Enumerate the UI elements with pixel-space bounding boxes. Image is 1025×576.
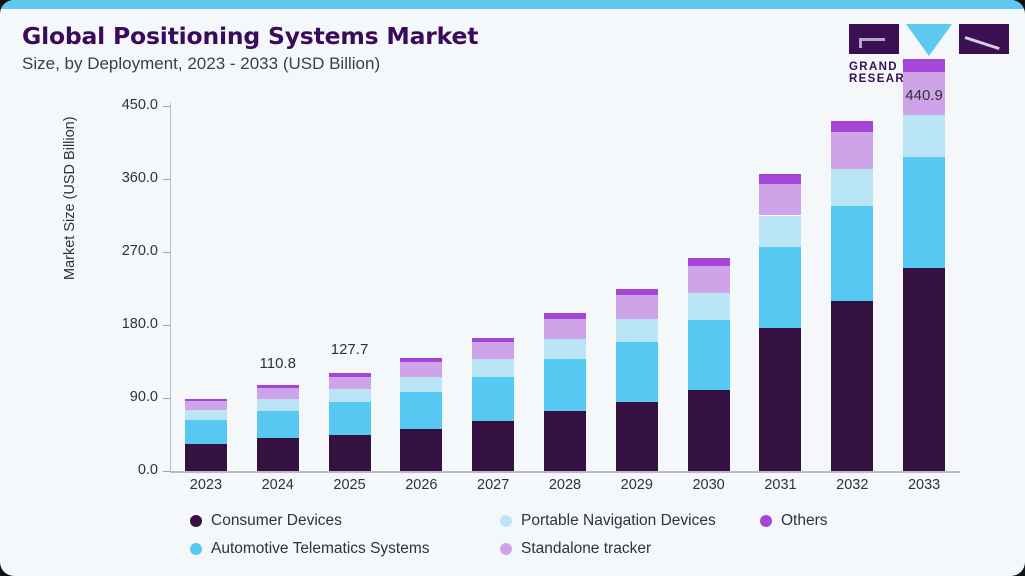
bar-value-label: 110.8	[238, 355, 318, 372]
bar-segment[interactable]	[257, 438, 299, 471]
bar-segment[interactable]	[616, 289, 658, 296]
y-tick-label: 360.0	[90, 170, 158, 186]
bar-segment[interactable]	[759, 247, 801, 328]
bar-segment[interactable]	[688, 320, 730, 390]
bar-segment[interactable]	[544, 339, 586, 359]
y-tick-label: 450.0	[90, 97, 158, 113]
legend-item[interactable]: Others	[760, 512, 828, 530]
bar-segment[interactable]	[688, 266, 730, 293]
bar-segment[interactable]	[616, 319, 658, 343]
bar-2024[interactable]	[257, 381, 299, 471]
logo-marks	[849, 24, 1009, 56]
bar-segment[interactable]	[329, 435, 371, 471]
bar-segment[interactable]	[831, 301, 873, 471]
y-tick-label: 90.0	[90, 389, 158, 405]
bar-segment[interactable]	[185, 410, 227, 420]
bar-2028[interactable]	[544, 313, 586, 471]
bar-segment[interactable]	[903, 268, 945, 471]
x-tick-label-2030: 2030	[669, 477, 749, 493]
bar-segment[interactable]	[257, 399, 299, 410]
x-tick-label-2032: 2032	[812, 477, 892, 493]
legend-color-swatch-icon	[500, 515, 512, 527]
legend-item[interactable]: Standalone tracker	[500, 540, 651, 558]
bar-2031[interactable]	[759, 223, 801, 471]
bar-segment[interactable]	[472, 342, 514, 359]
y-tick-mark	[163, 325, 170, 326]
bar-segment[interactable]	[329, 373, 371, 377]
legend-color-swatch-icon	[760, 515, 772, 527]
bar-segment[interactable]	[400, 358, 442, 362]
chart-plot-area: Market Size (USD Billion) 0.090.0180.027…	[0, 95, 1025, 485]
bar-segment[interactable]	[185, 420, 227, 444]
bar-segment[interactable]	[903, 59, 945, 72]
bar-segment[interactable]	[616, 295, 658, 318]
bar-segment[interactable]	[831, 121, 873, 132]
logo-v-triangle-icon	[906, 24, 952, 56]
bar-2023[interactable]	[185, 399, 227, 471]
bar-2032[interactable]	[831, 176, 873, 471]
y-axis-line	[170, 103, 171, 472]
bar-segment[interactable]	[472, 359, 514, 376]
bar-segment[interactable]	[185, 399, 227, 401]
bar-segment[interactable]	[257, 388, 299, 399]
legend-label: Others	[781, 512, 828, 530]
bar-segment[interactable]	[831, 169, 873, 206]
y-tick-mark	[163, 252, 170, 253]
legend-item[interactable]: Consumer Devices	[190, 512, 342, 530]
legend-label: Portable Navigation Devices	[521, 512, 716, 530]
y-tick-label: 180.0	[90, 316, 158, 332]
bar-segment[interactable]	[400, 392, 442, 429]
legend-label: Consumer Devices	[211, 512, 342, 530]
bar-segment[interactable]	[759, 174, 801, 184]
x-tick-label-2031: 2031	[740, 477, 820, 493]
bar-segment[interactable]	[759, 328, 801, 471]
bar-segment[interactable]	[472, 421, 514, 471]
bar-segment[interactable]	[759, 216, 801, 248]
bar-segment[interactable]	[544, 313, 586, 319]
bar-value-label: 440.9	[884, 87, 964, 104]
bar-segment[interactable]	[400, 429, 442, 471]
x-tick-label-2033: 2033	[884, 477, 964, 493]
bar-segment[interactable]	[185, 444, 227, 471]
legend-color-swatch-icon	[190, 515, 202, 527]
bar-segment[interactable]	[257, 385, 299, 388]
bar-segment[interactable]	[544, 359, 586, 411]
bar-segment[interactable]	[257, 411, 299, 439]
bar-segment[interactable]	[688, 293, 730, 320]
accent-top-bar	[0, 0, 1025, 9]
bar-segment[interactable]	[472, 338, 514, 343]
x-tick-label-2025: 2025	[310, 477, 390, 493]
y-tick-mark	[163, 471, 170, 472]
bar-segment[interactable]	[185, 401, 227, 410]
bar-segment[interactable]	[329, 377, 371, 390]
bar-segment[interactable]	[329, 402, 371, 434]
bar-2025[interactable]	[329, 367, 371, 471]
bar-segment[interactable]	[400, 377, 442, 392]
x-axis-line	[170, 471, 960, 473]
bar-segment[interactable]	[616, 342, 658, 402]
bar-2033[interactable]	[903, 113, 945, 471]
legend-item[interactable]: Automotive Telematics Systems	[190, 540, 430, 558]
legend-item[interactable]: Portable Navigation Devices	[500, 512, 716, 530]
y-axis-title: Market Size (USD Billion)	[62, 116, 78, 280]
x-tick-label-2029: 2029	[597, 477, 677, 493]
legend-label: Automotive Telematics Systems	[211, 540, 430, 558]
y-tick-label: 270.0	[90, 243, 158, 259]
bar-2026[interactable]	[400, 358, 442, 471]
logo-r-icon	[959, 24, 1009, 54]
bar-2030[interactable]	[688, 258, 730, 471]
bar-value-label: 127.7	[310, 341, 390, 358]
y-tick-mark	[163, 106, 170, 107]
bar-segment[interactable]	[688, 258, 730, 266]
bar-segment[interactable]	[831, 206, 873, 301]
bar-segment[interactable]	[472, 377, 514, 421]
bar-segment[interactable]	[831, 132, 873, 169]
bar-segment[interactable]	[688, 390, 730, 471]
bar-segment[interactable]	[759, 184, 801, 216]
legend-color-swatch-icon	[500, 543, 512, 555]
bar-segment[interactable]	[903, 157, 945, 268]
x-tick-label-2023: 2023	[166, 477, 246, 493]
y-tick-label: 0.0	[90, 462, 158, 478]
x-tick-label-2028: 2028	[525, 477, 605, 493]
x-tick-label-2024: 2024	[238, 477, 318, 493]
chart-card: Global Positioning Systems Market Size, …	[0, 0, 1025, 576]
bar-segment[interactable]	[903, 115, 945, 157]
bar-segment[interactable]	[329, 389, 371, 402]
y-tick-mark	[163, 179, 170, 180]
legend-label: Standalone tracker	[521, 540, 651, 558]
bar-2029[interactable]	[616, 289, 658, 472]
x-tick-label-2027: 2027	[453, 477, 533, 493]
logo-g-icon	[849, 24, 899, 54]
x-tick-label-2026: 2026	[381, 477, 461, 493]
bar-segment[interactable]	[400, 362, 442, 377]
bar-segment[interactable]	[544, 319, 586, 339]
bar-segment[interactable]	[616, 402, 658, 471]
chart-legend: Consumer DevicesAutomotive Telematics Sy…	[190, 508, 890, 568]
y-tick-mark	[163, 398, 170, 399]
legend-color-swatch-icon	[190, 543, 202, 555]
bar-segment[interactable]	[544, 411, 586, 471]
bar-2027[interactable]	[472, 337, 514, 471]
